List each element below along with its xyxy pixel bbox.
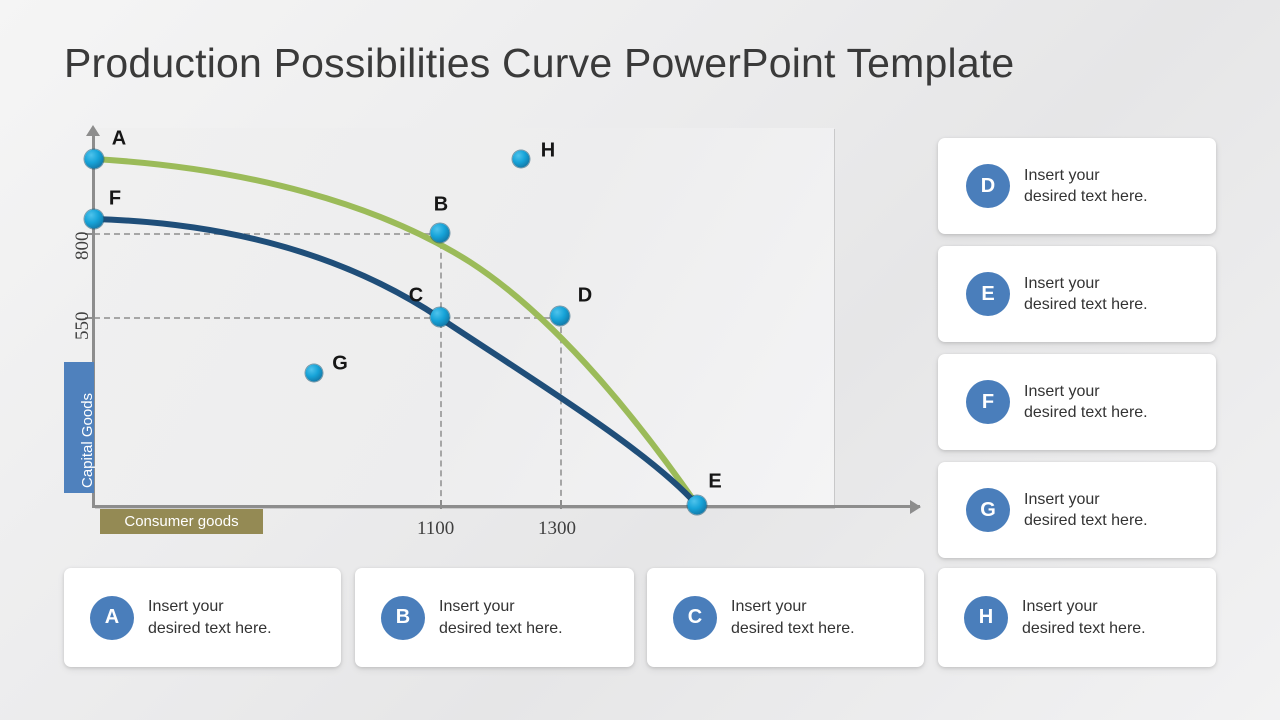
card-line2: desired text here.	[1022, 618, 1146, 639]
card-bottom-a-text: Insert your desired text here.	[148, 596, 272, 638]
card-right-g[interactable]: G Insert your desired text here.	[938, 462, 1216, 558]
card-bottom-b-text: Insert your desired text here.	[439, 596, 563, 638]
card-right-f-text: Insert your desired text here.	[1024, 381, 1148, 423]
data-point-label-d: D	[578, 285, 592, 308]
card-line1: Insert your	[439, 598, 515, 615]
data-point-label-f: F	[109, 188, 121, 211]
badge-b: B	[381, 596, 425, 640]
card-right-f[interactable]: F Insert your desired text here.	[938, 354, 1216, 450]
card-line1: Insert your	[1024, 167, 1100, 184]
badge-c: C	[673, 596, 717, 640]
y-axis-title: Capital Goods	[64, 362, 94, 493]
data-point-label-h: H	[541, 140, 555, 163]
card-line1: Insert your	[1022, 598, 1098, 615]
x-tick-1300	[560, 500, 562, 509]
x-tick-label-1100: 1100	[417, 518, 454, 540]
badge-f: F	[966, 380, 1010, 424]
data-point-g[interactable]	[306, 365, 323, 382]
card-bottom-b[interactable]: B Insert your desired text here.	[355, 568, 634, 667]
card-line1: Insert your	[1024, 491, 1100, 508]
x-axis-title: Consumer goods	[100, 509, 263, 534]
card-bottom-a[interactable]: A Insert your desired text here.	[64, 568, 341, 667]
badge-h: H	[964, 596, 1008, 640]
card-line2: desired text here.	[148, 618, 272, 639]
data-point-e[interactable]	[688, 496, 707, 515]
x-axis-line	[92, 505, 920, 508]
card-line1: Insert your	[148, 598, 224, 615]
data-point-label-a: A	[112, 128, 126, 151]
y-axis-title-label: Capital Goods	[79, 393, 96, 488]
card-line2: desired text here.	[1024, 402, 1148, 423]
card-bottom-h[interactable]: H Insert your desired text here.	[938, 568, 1216, 667]
card-line1: Insert your	[731, 598, 807, 615]
card-line2: desired text here.	[1024, 510, 1148, 531]
ppc-chart: 800 550 1100 1300 A F B C D G H E Capita…	[0, 0, 930, 560]
card-right-d-text: Insert your desired text here.	[1024, 165, 1148, 207]
gridline-x-1300	[560, 317, 562, 506]
x-tick-label-1300: 1300	[538, 518, 576, 540]
y-tick-label-550: 550	[72, 312, 94, 341]
badge-a: A	[90, 596, 134, 640]
card-line2: desired text here.	[1024, 294, 1148, 315]
x-tick-1100	[440, 500, 442, 509]
slide-canvas: Production Possibilities Curve PowerPoin…	[0, 0, 1280, 720]
card-line2: desired text here.	[439, 618, 563, 639]
card-line1: Insert your	[1024, 275, 1100, 292]
badge-g: G	[966, 488, 1010, 532]
card-bottom-c[interactable]: C Insert your desired text here.	[647, 568, 924, 667]
card-bottom-h-text: Insert your desired text here.	[1022, 596, 1146, 638]
card-bottom-c-text: Insert your desired text here.	[731, 596, 855, 638]
card-line1: Insert your	[1024, 383, 1100, 400]
data-point-h[interactable]	[513, 151, 530, 168]
data-point-label-e: E	[708, 471, 721, 494]
gridline-y-550	[94, 317, 560, 319]
y-tick-label-800: 800	[72, 232, 94, 261]
gridline-y-800	[94, 233, 440, 235]
data-point-c[interactable]	[431, 308, 450, 327]
data-point-a[interactable]	[85, 150, 104, 169]
card-right-g-text: Insert your desired text here.	[1024, 489, 1148, 531]
gridline-x-1100	[440, 233, 442, 506]
card-right-e[interactable]: E Insert your desired text here.	[938, 246, 1216, 342]
card-line2: desired text here.	[731, 618, 855, 639]
data-point-label-g: G	[332, 353, 348, 376]
card-right-e-text: Insert your desired text here.	[1024, 273, 1148, 315]
data-point-f[interactable]	[85, 210, 104, 229]
card-right-d[interactable]: D Insert your desired text here.	[938, 138, 1216, 234]
badge-e: E	[966, 272, 1010, 316]
badge-d: D	[966, 164, 1010, 208]
data-point-label-c: C	[409, 285, 423, 308]
data-point-b[interactable]	[431, 224, 450, 243]
x-axis-arrow-icon	[910, 500, 921, 514]
y-axis-arrow-icon	[86, 125, 100, 136]
data-point-label-b: B	[434, 194, 448, 217]
card-line2: desired text here.	[1024, 186, 1148, 207]
data-point-d[interactable]	[551, 307, 570, 326]
